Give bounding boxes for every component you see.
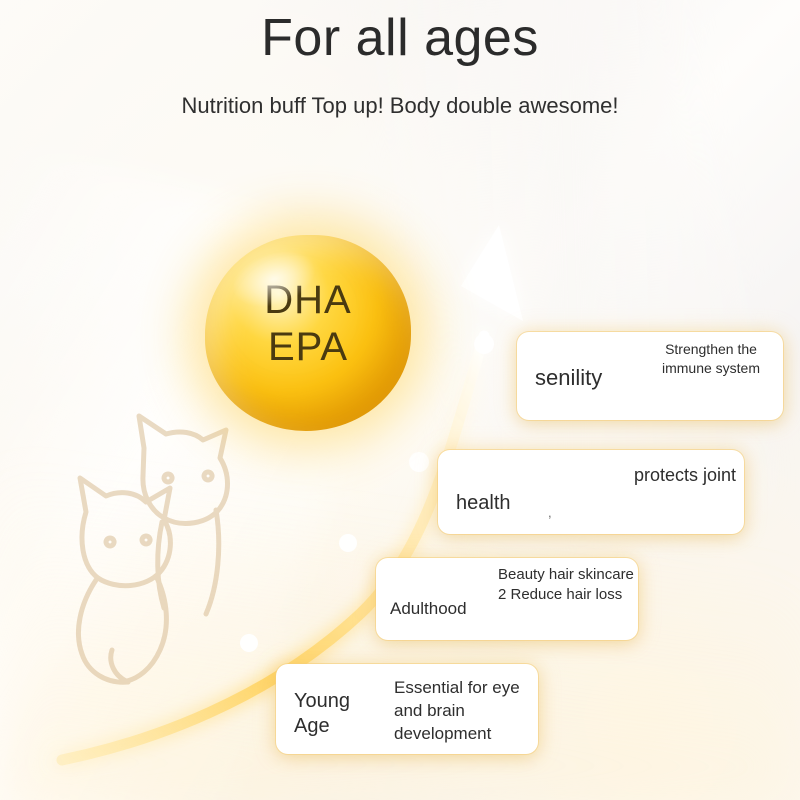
droplet-line-epa: EPA [205,324,411,371]
infographic-page: For all ages Nutrition buff Top up! Body… [0,0,800,800]
card-stage-label: senility [535,365,602,391]
page-subtitle: Nutrition buff Top up! Body double aweso… [0,93,800,119]
card-mark: , [548,505,552,520]
card-stage-label: Adulthood [390,599,467,619]
card-benefit-text: Beauty hair skincare 2 Reduce hair loss [498,565,634,606]
callout-card-adulthood[interactable]: Adulthood Beauty hair skincare 2 Reduce … [376,558,638,640]
page-title: For all ages [0,8,800,68]
callout-card-young-age[interactable]: Young Age Essential for eye and brain de… [276,664,538,754]
card-benefit-text: Essential for eye and brain development [394,677,534,746]
droplet-line-dha: DHA [205,277,411,324]
droplet-label: DHA EPA [205,277,411,371]
card-benefit-text: Strengthen the immune system [641,340,781,378]
card-stage-label: health [456,492,511,515]
card-benefit-text: protects joint [566,463,736,487]
cat-and-dog-outline-icon [40,400,270,700]
callout-card-senility[interactable]: senility Strengthen the immune system [517,332,783,420]
card-stage-label: Young Age [294,689,374,739]
dha-epa-droplet: DHA EPA [205,235,411,431]
callout-card-health[interactable]: health protects joint , [438,450,744,534]
